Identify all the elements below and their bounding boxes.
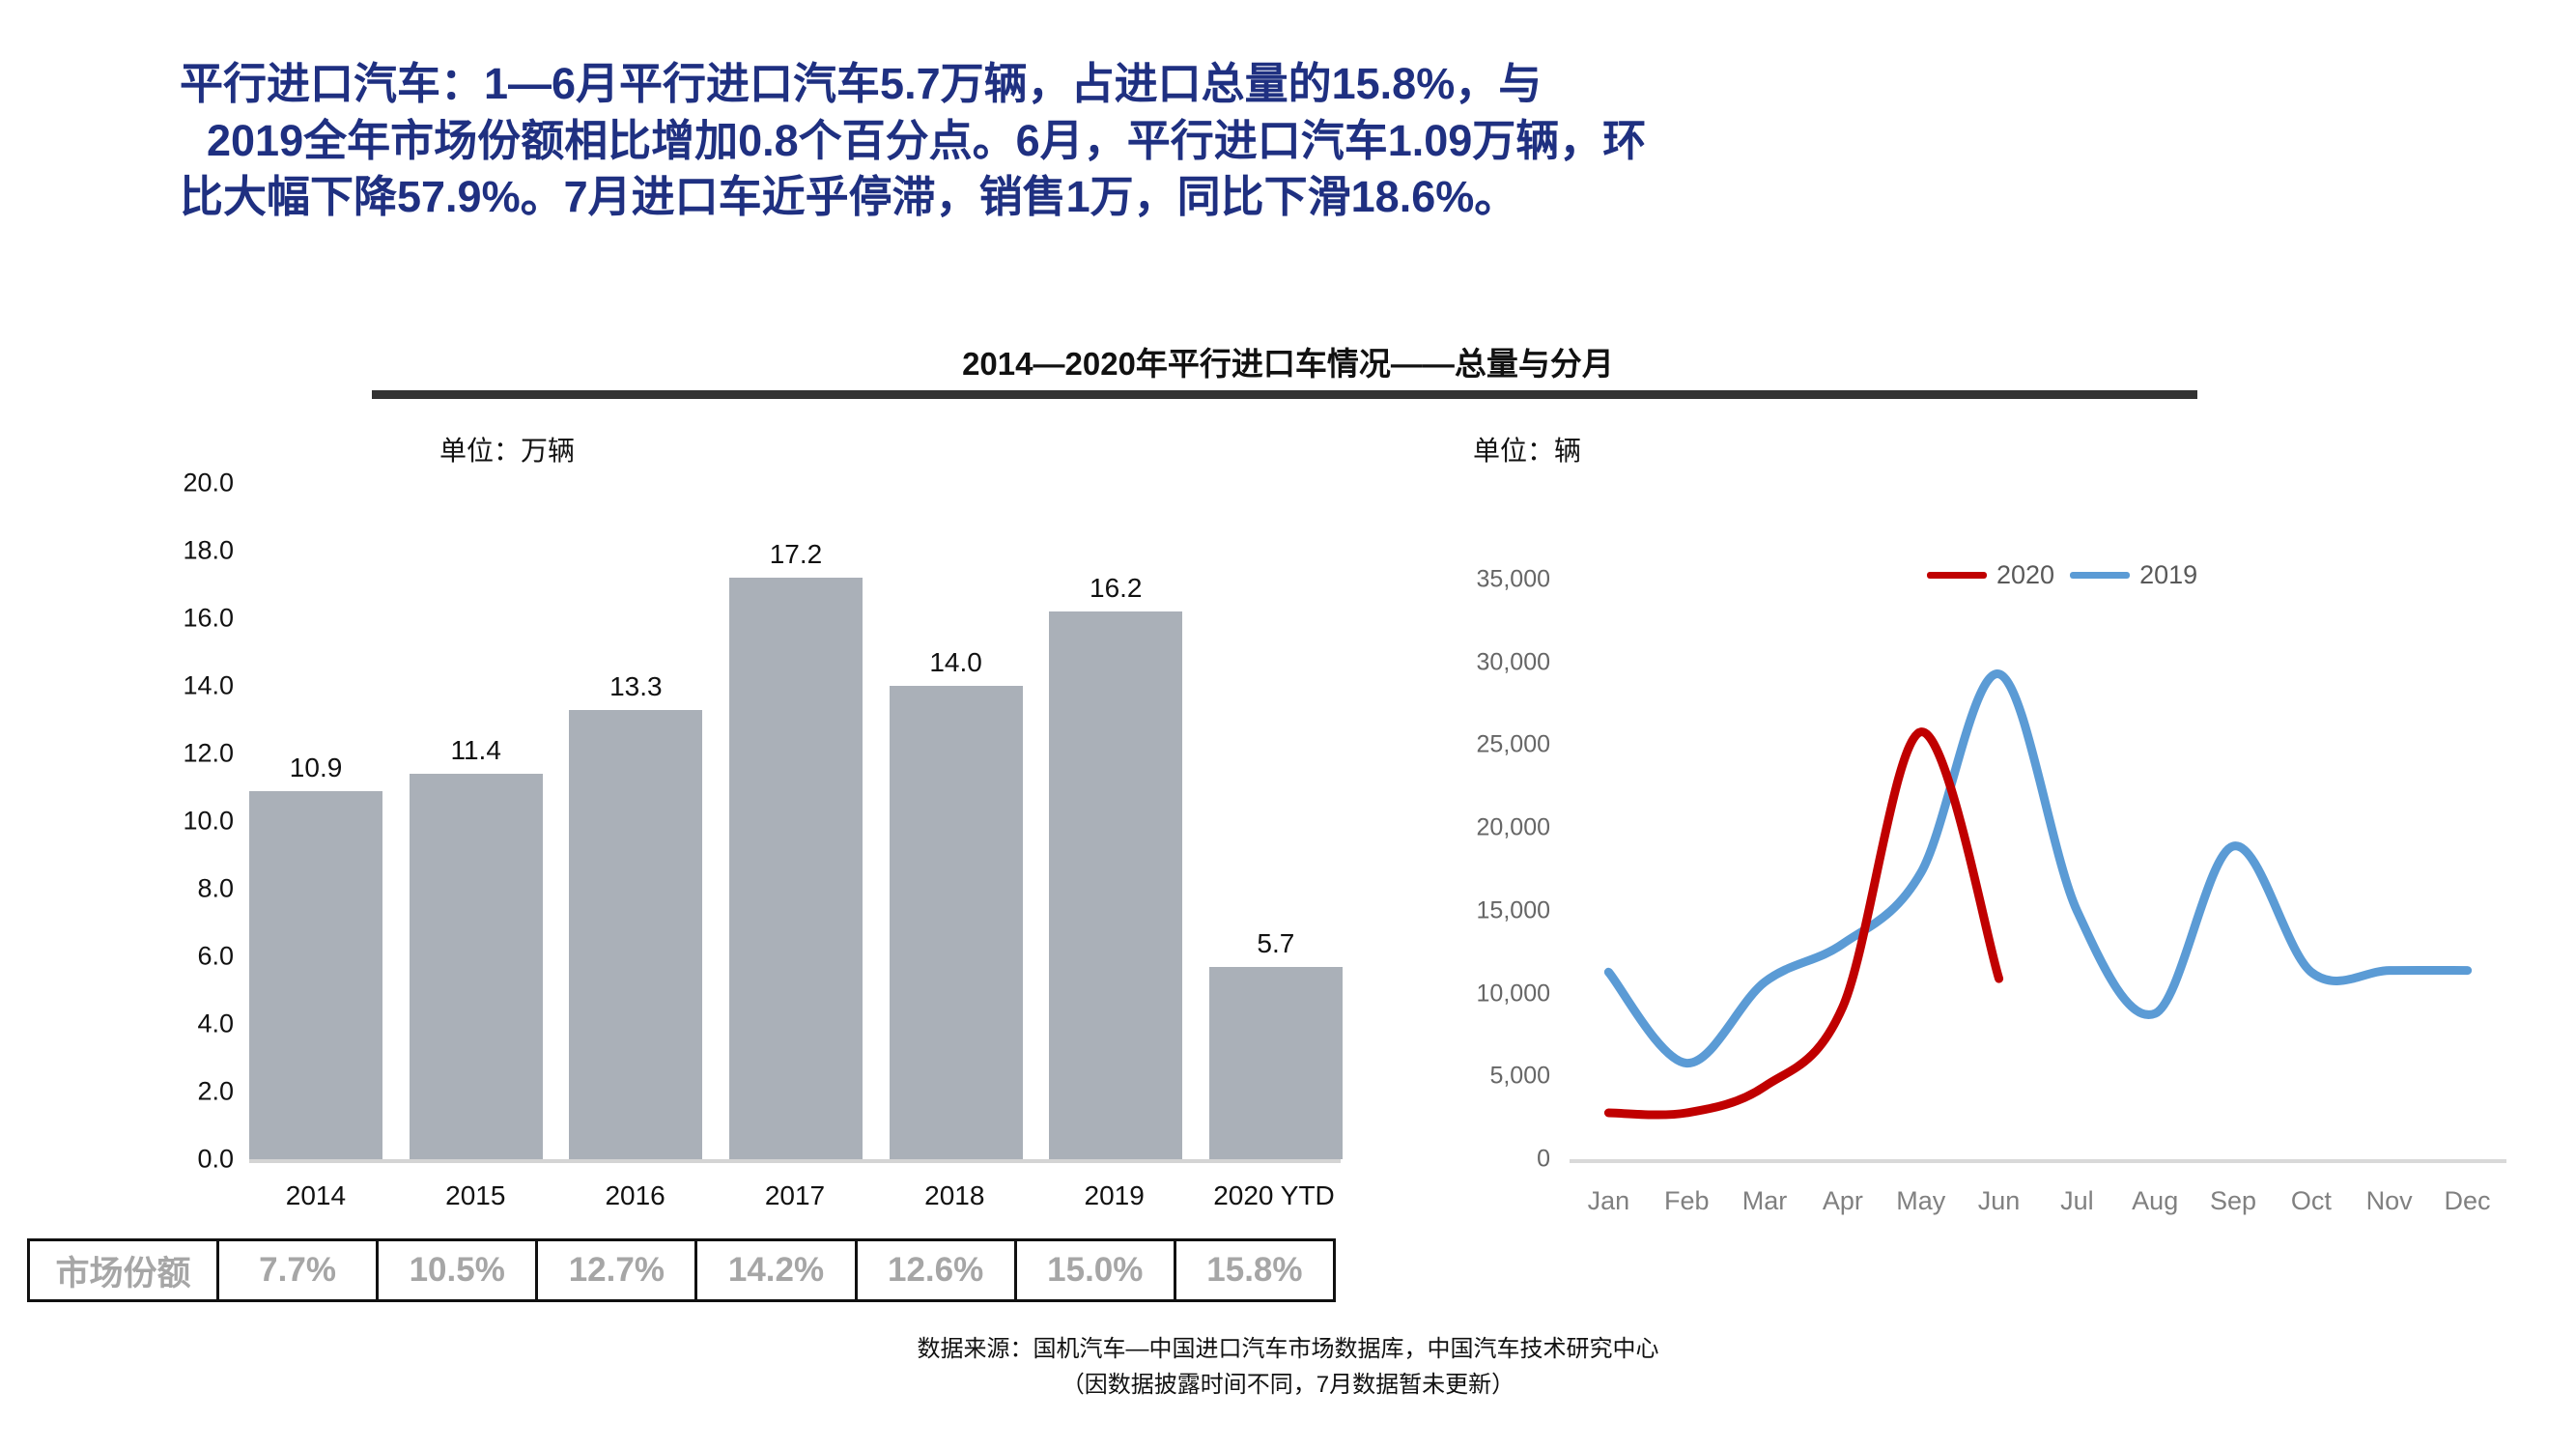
bar-x-tick-label: 2015 <box>409 1180 542 1211</box>
bar-rect[interactable] <box>729 578 863 1159</box>
bar-column[interactable]: 13.3 <box>569 483 702 1159</box>
line-chart-x-axis: JanFebMarAprMayJunJulAugSepOctNovDec <box>1570 1186 2506 1216</box>
line-x-tick-label: May <box>1882 1186 1960 1216</box>
line-x-tick-label: Feb <box>1648 1186 1726 1216</box>
line-x-tick-label: Oct <box>2272 1186 2350 1216</box>
market-share-table: 市场份额 7.7%10.5%12.7%14.2%12.6%15.0%15.8% <box>27 1238 1336 1302</box>
market-share-cell: 14.2% <box>697 1241 857 1299</box>
bar-rect[interactable] <box>249 791 382 1160</box>
bar-y-tick-label: 18.0 <box>183 536 234 566</box>
headline-line-3: 比大幅下降57.9%。7月进口车近乎停滞，销售1万，同比下滑18.6%。 <box>180 169 2420 226</box>
line-x-tick-label: Jun <box>1960 1186 2038 1216</box>
bar-rect[interactable] <box>569 710 702 1160</box>
bar-column[interactable]: 17.2 <box>729 483 863 1159</box>
legend-swatch-2020 <box>1927 572 1987 579</box>
line-chart: 05,00010,00015,00020,00025,00030,00035,0… <box>1381 522 2521 1198</box>
bar-x-tick-label: 2016 <box>569 1180 702 1211</box>
bar-column[interactable]: 16.2 <box>1049 483 1182 1159</box>
bar-y-tick-label: 20.0 <box>183 469 234 498</box>
bar-rect[interactable] <box>1209 967 1343 1160</box>
line-x-tick-label: Jul <box>2038 1186 2116 1216</box>
bar-value-label: 11.4 <box>410 735 543 766</box>
footnote-line-2: （因数据披露时间不同，7月数据暂未更新） <box>0 1367 2576 1403</box>
line-x-tick-label: Mar <box>1726 1186 1804 1216</box>
bar-chart: 0.02.04.06.08.010.012.014.016.018.020.0 … <box>106 483 1362 1188</box>
market-share-cell: 10.5% <box>379 1241 538 1299</box>
headline-line-1: 平行进口汽车：1—6月平行进口汽车5.7万辆，占进口总量的15.8%，与 <box>180 56 2420 113</box>
unit-caption-right: 单位：辆 <box>1473 430 1581 469</box>
line-y-tick-label: 5,000 <box>1489 1063 1550 1091</box>
legend-swatch-2019 <box>2070 572 2130 579</box>
line-x-tick-label: Jan <box>1570 1186 1648 1216</box>
bar-column[interactable]: 5.7 <box>1209 483 1343 1159</box>
chart-block-title: 2014—2020年平行进口车情况——总量与分月 <box>0 338 2576 384</box>
line-x-tick-label: Sep <box>2194 1186 2273 1216</box>
market-share-cell: 12.6% <box>858 1241 1017 1299</box>
bar-x-tick-label: 2018 <box>888 1180 1021 1211</box>
bar-chart-baseline <box>249 1159 1341 1163</box>
bar-y-tick-label: 10.0 <box>183 807 234 837</box>
bar-value-label: 17.2 <box>729 539 863 570</box>
bar-value-label: 10.9 <box>249 753 382 783</box>
bar-value-label: 13.3 <box>569 671 702 702</box>
bar-rect[interactable] <box>410 774 543 1159</box>
line-chart-y-axis: 05,00010,00015,00020,00025,00030,00035,0… <box>1381 560 1560 1159</box>
bar-chart-y-axis: 0.02.04.06.08.010.012.014.016.018.020.0 <box>106 483 241 1159</box>
bar-x-tick-label: 2017 <box>728 1180 862 1211</box>
bar-y-tick-label: 8.0 <box>197 874 234 904</box>
bar-x-tick-label: 2019 <box>1048 1180 1181 1211</box>
headline-line-2: 2019全年市场份额相比增加0.8个百分点。6月，平行进口汽车1.09万辆，环 <box>180 113 2420 170</box>
line-y-tick-label: 0 <box>1537 1146 1550 1174</box>
data-source-footnote: 数据来源：国机汽车—中国进口汽车市场数据库，中国汽车技术研究中心 （因数据披露时… <box>0 1331 2576 1403</box>
line-x-tick-label: Dec <box>2428 1186 2506 1216</box>
line-y-tick-label: 30,000 <box>1477 648 1550 676</box>
line-y-tick-label: 20,000 <box>1477 814 1550 842</box>
bar-chart-x-axis: 2014201520162017201820192020 YTD <box>249 1180 1341 1211</box>
line-chart-plot-area <box>1570 522 2506 1159</box>
bar-y-tick-label: 14.0 <box>183 671 234 701</box>
line-x-tick-label: Apr <box>1803 1186 1882 1216</box>
line-x-tick-label: Nov <box>2350 1186 2428 1216</box>
legend-label-2020: 2020 <box>1996 560 2054 590</box>
market-share-cell: 15.0% <box>1017 1241 1176 1299</box>
line-chart-svg <box>1570 522 2506 1159</box>
legend-item-2019[interactable]: 2019 <box>2070 560 2197 590</box>
bar-x-tick-label: 2014 <box>249 1180 382 1211</box>
line-x-tick-label: Aug <box>2116 1186 2194 1216</box>
bar-value-label: 14.0 <box>890 647 1023 678</box>
footnote-line-1: 数据来源：国机汽车—中国进口汽车市场数据库，中国汽车技术研究中心 <box>0 1331 2576 1367</box>
line-y-tick-label: 25,000 <box>1477 731 1550 759</box>
bar-x-tick-label: 2020 YTD <box>1207 1180 1341 1211</box>
market-share-cell: 15.8% <box>1176 1241 1333 1299</box>
title-divider-rule <box>372 390 2197 399</box>
bar-column[interactable]: 14.0 <box>890 483 1023 1159</box>
line-y-tick-label: 15,000 <box>1477 896 1550 924</box>
legend-label-2019: 2019 <box>2139 560 2197 590</box>
bar-value-label: 5.7 <box>1209 928 1343 959</box>
market-share-cell: 12.7% <box>538 1241 697 1299</box>
bar-rect[interactable] <box>890 686 1023 1159</box>
bar-value-label: 16.2 <box>1049 573 1182 604</box>
line-y-tick-label: 35,000 <box>1477 566 1550 594</box>
bar-rect[interactable] <box>1049 611 1182 1159</box>
bar-y-tick-label: 16.0 <box>183 604 234 634</box>
bar-chart-plot-area: 10.911.413.317.214.016.25.7 <box>249 483 1343 1159</box>
line-y-tick-label: 10,000 <box>1477 980 1550 1008</box>
page-headline: 平行进口汽车：1—6月平行进口汽车5.7万辆，占进口总量的15.8%，与 201… <box>180 56 2420 226</box>
bar-column[interactable]: 11.4 <box>410 483 543 1159</box>
unit-caption-left: 单位：万辆 <box>439 430 575 469</box>
legend-item-2020[interactable]: 2020 <box>1927 560 2054 590</box>
market-share-header: 市场份额 <box>30 1241 219 1299</box>
line-chart-legend: 20202019 <box>1927 560 2197 590</box>
line-chart-baseline <box>1570 1159 2506 1163</box>
bar-y-tick-label: 0.0 <box>197 1145 234 1175</box>
bar-y-tick-label: 2.0 <box>197 1077 234 1107</box>
market-share-cell: 7.7% <box>219 1241 379 1299</box>
bar-y-tick-label: 6.0 <box>197 942 234 972</box>
bar-y-tick-label: 12.0 <box>183 739 234 769</box>
bar-y-tick-label: 4.0 <box>197 1009 234 1039</box>
line-series-2019[interactable] <box>1608 674 2467 1064</box>
bar-column[interactable]: 10.9 <box>249 483 382 1159</box>
